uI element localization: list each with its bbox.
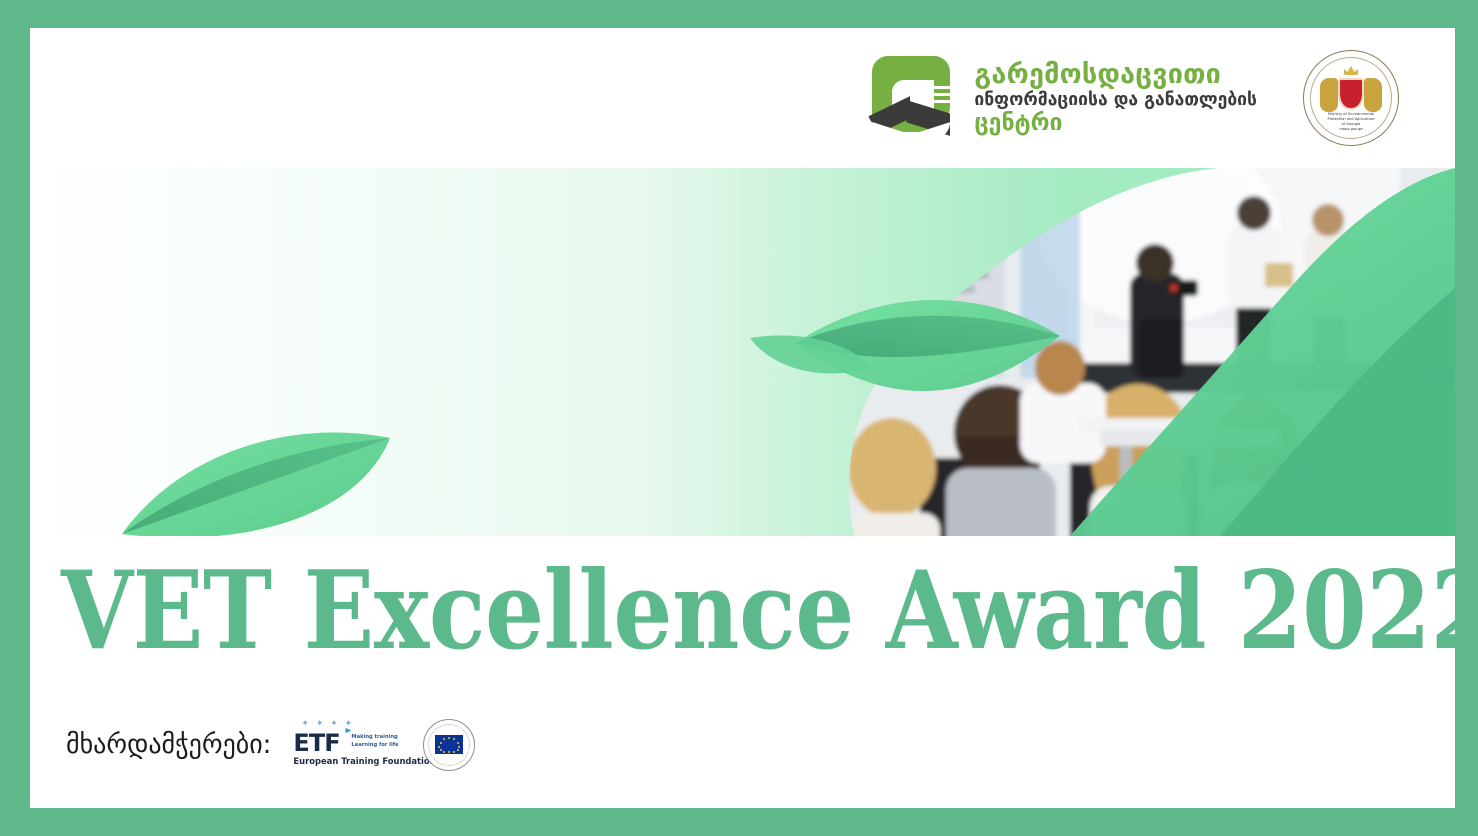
etf-wordmark: ETF [293,729,339,757]
hero-artwork [60,168,1455,536]
org-logo-line1: გარემოსდაცვითი [974,61,1257,89]
org-logo: გარემოსდაცვითი ინფორმაციისა და განათლები… [870,54,1257,142]
etf-logo-icon: ✦ ✦ ✦ ✦ ETF Making training Learning for… [293,716,401,774]
org-logo-line3: ცენტრი [974,111,1257,135]
title-band: VET Excellence Award 2022 [30,536,1455,686]
poster-root: გარემოსდაცვითი ინფორმაციისა და განათლები… [0,0,1478,836]
eu-seal-logo-icon [423,719,475,771]
ministry-emblem-caption: Ministry of Environmental Protection and… [1319,112,1383,131]
page-title: VET Excellence Award 2022 [30,557,1455,665]
header-logo-band: გარემოსდაცვითი ინფორმაციისა და განათლები… [30,28,1455,168]
etf-tagline: Making training Learning for life [351,734,398,750]
poster-canvas: გარემოსდაცვითი ინფორმაციისა და განათლები… [30,28,1455,808]
hero-banner [60,168,1455,536]
georgia-ministry-emblem-icon: Ministry of Environmental Protection and… [1303,50,1399,146]
etf-subtitle: European Training Foundation [293,756,435,766]
green-book-logo-icon [870,54,962,142]
org-logo-line2: ინფორმაციისა და განათლების [974,91,1257,109]
supporters-label: მხარდამჭერები: [66,730,271,760]
european-union-flag-icon [435,735,463,754]
org-logo-text: გარემოსდაცვითი ინფორმაციისა და განათლები… [974,61,1257,135]
supporters-row: მხარდამჭერები: ✦ ✦ ✦ ✦ ETF Making traini… [66,716,475,774]
